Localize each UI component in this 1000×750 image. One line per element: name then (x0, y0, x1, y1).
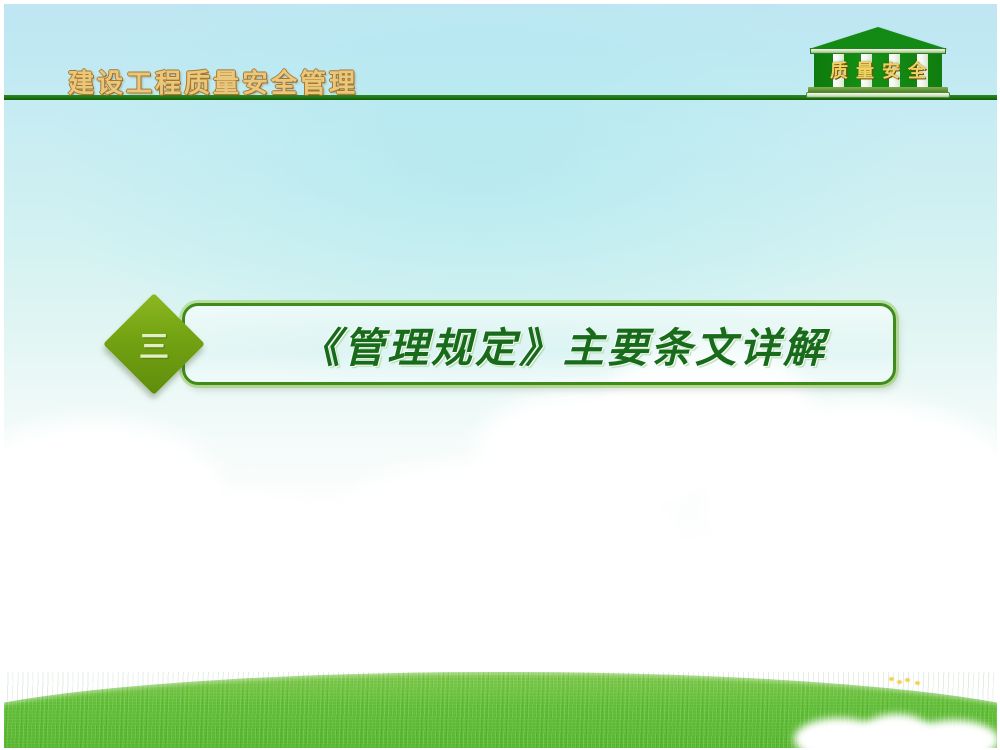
logo-base-lower (806, 92, 950, 98)
quality-safety-building-logo: 质量安全 (806, 27, 950, 99)
section-title-text: 《管理规定》主要条文详解 (182, 303, 896, 385)
flower-dot (889, 677, 894, 681)
grass-field (4, 658, 997, 748)
section-title-banner: 《管理规定》主要条文详解 (182, 303, 896, 385)
logo-roof-icon (809, 27, 947, 49)
section-number-badge: 三 (106, 296, 202, 392)
logo-text: 质量安全 (814, 57, 942, 85)
flower-dot (897, 680, 902, 684)
flower-dot (905, 678, 910, 682)
presentation-slide: 建设工程质量安全管理 质量安全 《管理规定》主要条文详解 三 (0, 0, 1000, 750)
flower-dot (915, 681, 920, 685)
page-title: 建设工程质量安全管理 (68, 63, 358, 100)
section-number-label: 三 (106, 296, 202, 392)
